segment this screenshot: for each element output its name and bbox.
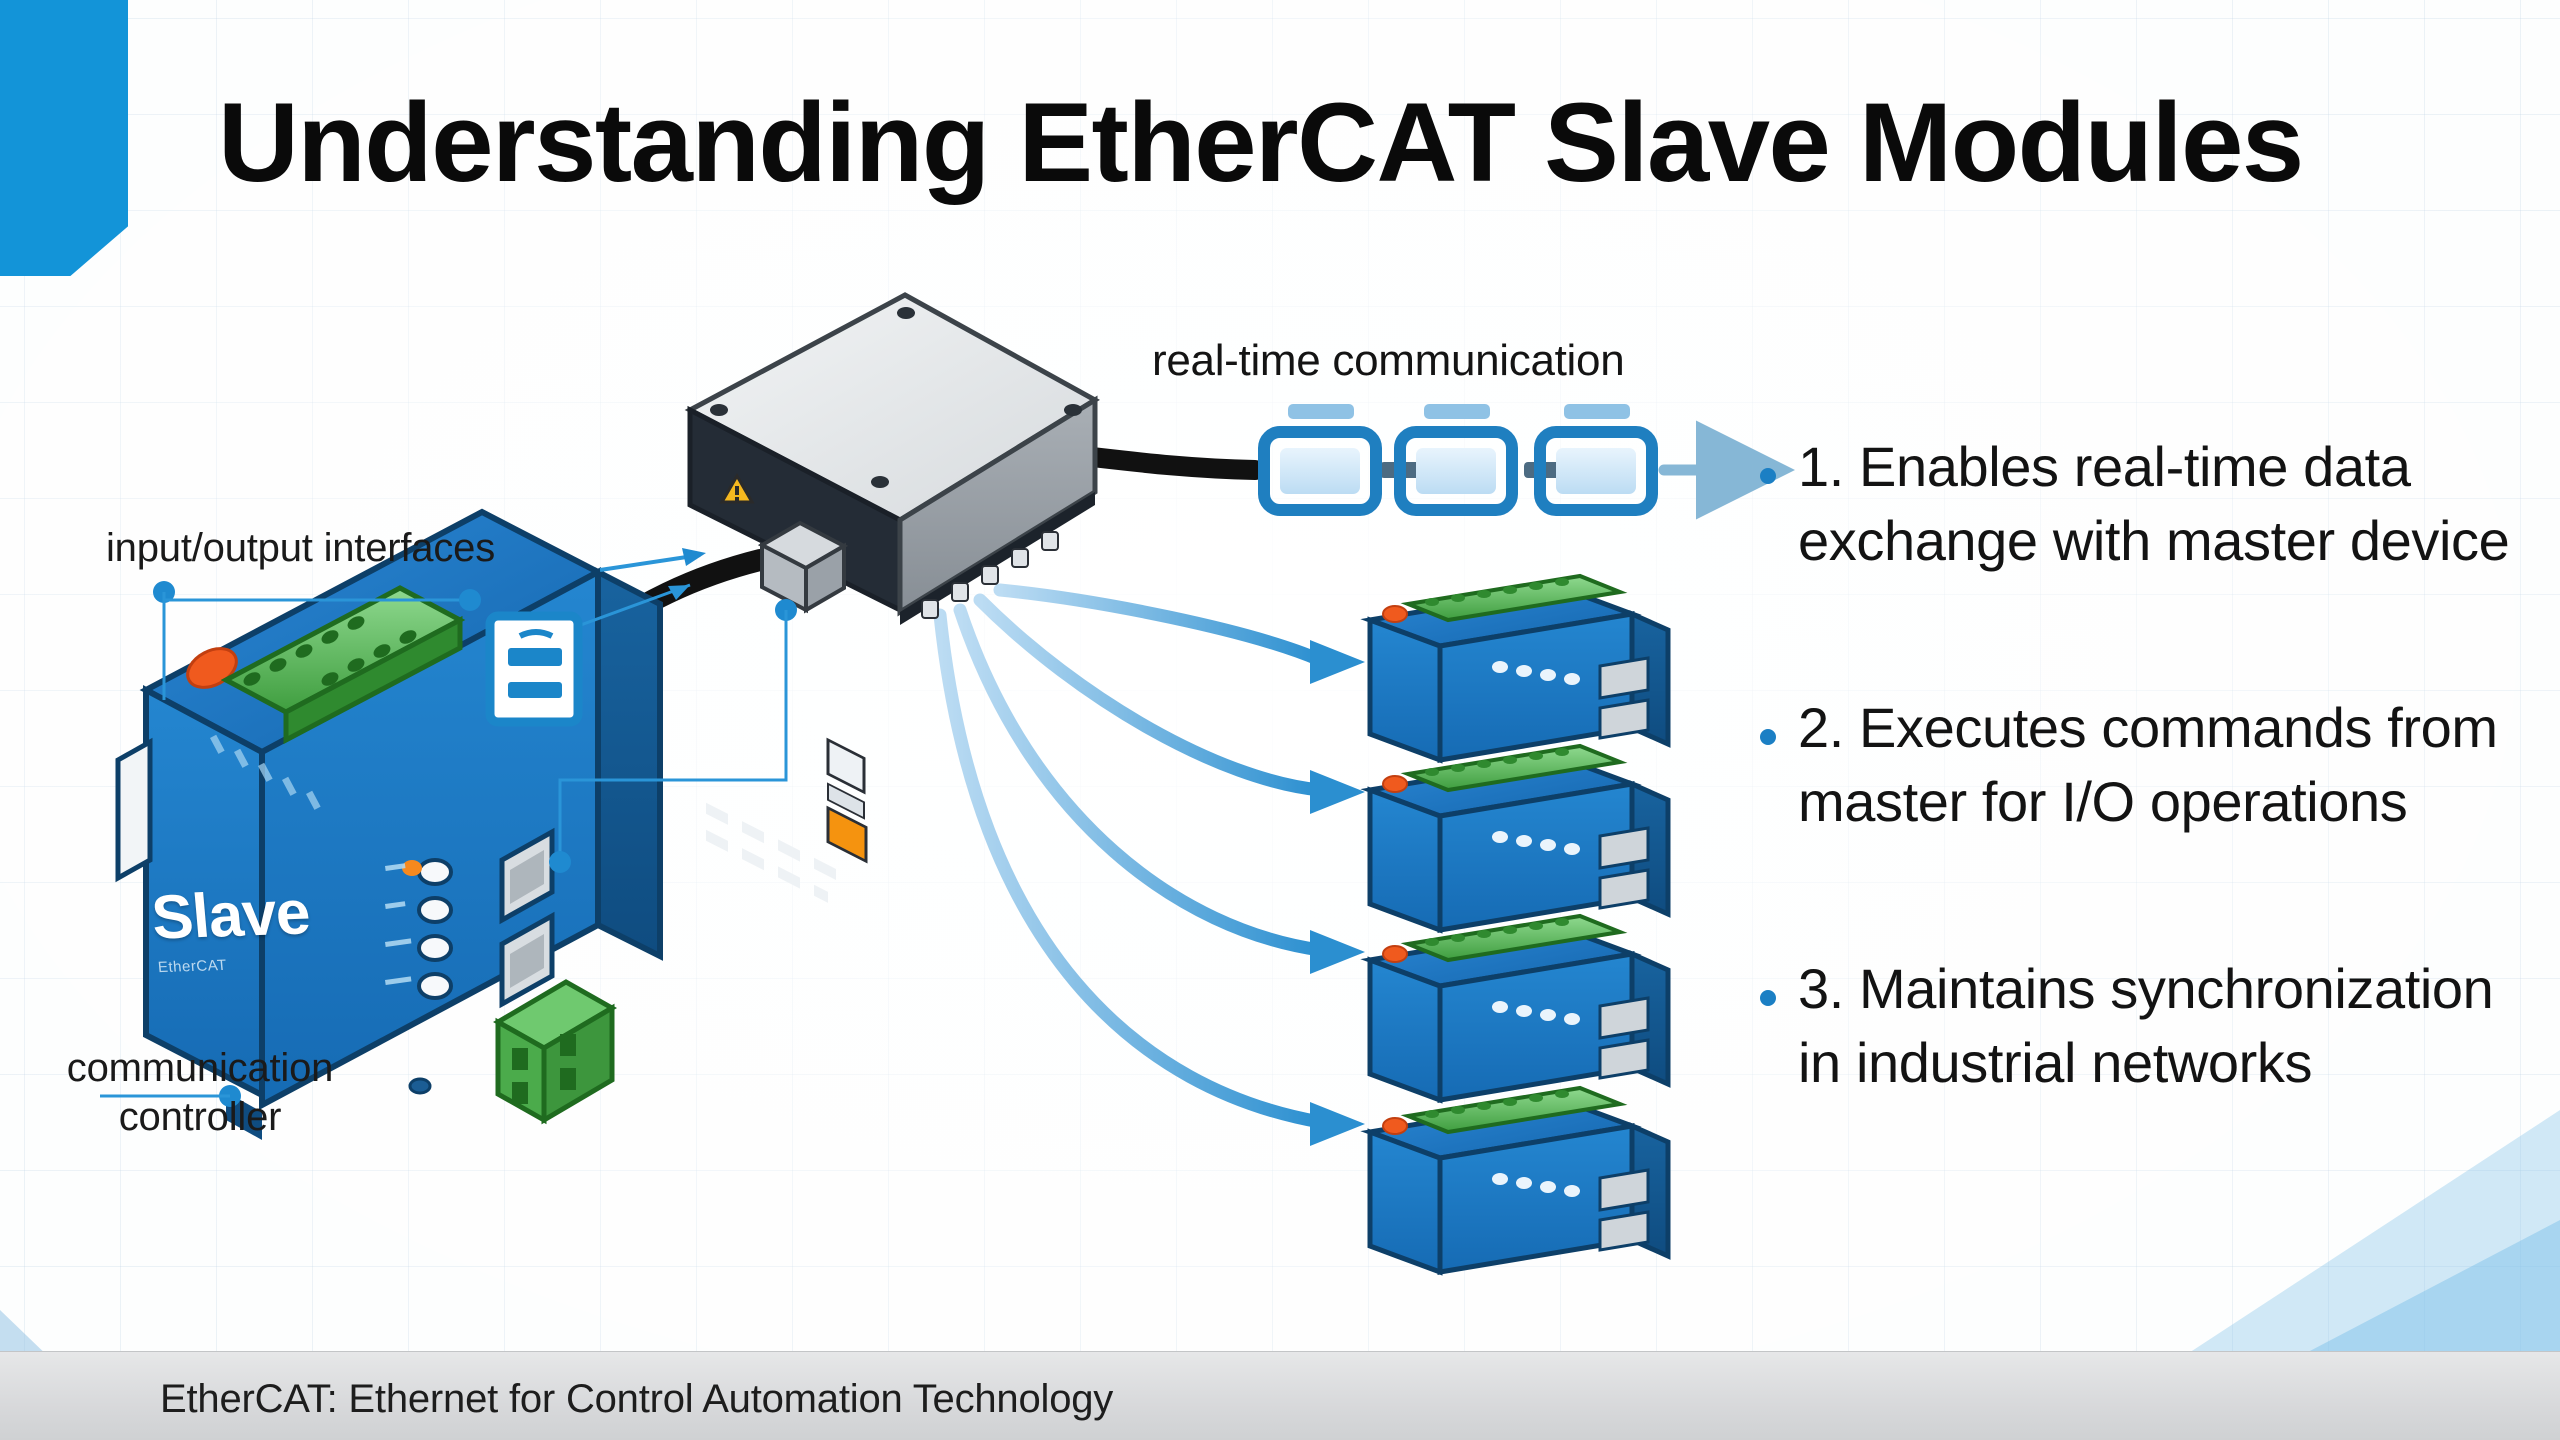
document-icon xyxy=(490,616,578,722)
bullet-text: 2. Executes commands from master for I/O… xyxy=(1798,691,2498,840)
slave-device-subtext: EtherCAT xyxy=(157,957,227,976)
callout-cc-line2: controller xyxy=(40,1093,360,1142)
io-slave-module xyxy=(1370,746,1668,930)
rj45-port-icon xyxy=(828,740,864,792)
bullet-line: 2. Executes commands from xyxy=(1798,691,2498,765)
callout-cc-line1: communication xyxy=(40,1044,360,1093)
bullet-line: in industrial networks xyxy=(1798,1026,2493,1100)
bullet-list: 1. Enables real-time data exchange with … xyxy=(1760,430,2550,1213)
label-realtime-communication: real-time communication xyxy=(1152,336,1624,386)
callout-communication-controller: communication controller xyxy=(40,1044,360,1142)
bullet-dot-icon xyxy=(1760,729,1776,745)
slave-device-wordmark: Slave xyxy=(149,877,312,953)
footer-caption: EtherCAT: Ethernet for Control Automatio… xyxy=(160,1377,1113,1422)
bullet-text: 3. Maintains synchronization in industri… xyxy=(1798,952,2493,1101)
slide-canvas: Understanding EtherCAT Slave Modules xyxy=(0,0,2560,1440)
list-item: 1. Enables real-time data exchange with … xyxy=(1760,430,2550,579)
led-indicator-icon xyxy=(706,803,836,903)
bullet-line: 3. Maintains synchronization xyxy=(1798,952,2493,1026)
bullet-dot-icon xyxy=(1760,468,1776,484)
callout-io-interfaces: input/output interfaces xyxy=(106,524,495,573)
data-packet xyxy=(1264,404,1376,510)
packet-chain xyxy=(1264,404,1740,510)
bullet-dot-icon xyxy=(1760,990,1776,1006)
terminal-block-icon xyxy=(498,982,612,1120)
bullet-line: 1. Enables real-time data xyxy=(1798,430,2509,504)
list-item: 2. Executes commands from master for I/O… xyxy=(1760,691,2550,840)
bullet-line: master for I/O operations xyxy=(1798,765,2498,839)
list-item: 3. Maintains synchronization in industri… xyxy=(1760,952,2550,1101)
io-slave-module xyxy=(1370,1088,1668,1272)
bullet-line: exchange with master device xyxy=(1798,504,2509,578)
bullet-text: 1. Enables real-time data exchange with … xyxy=(1798,430,2509,579)
fanout-arrow-group xyxy=(940,590,1365,1146)
data-packet xyxy=(1400,404,1512,510)
data-packet xyxy=(1540,404,1652,510)
io-slave-module xyxy=(1370,916,1668,1100)
io-slave-module xyxy=(1370,576,1668,760)
